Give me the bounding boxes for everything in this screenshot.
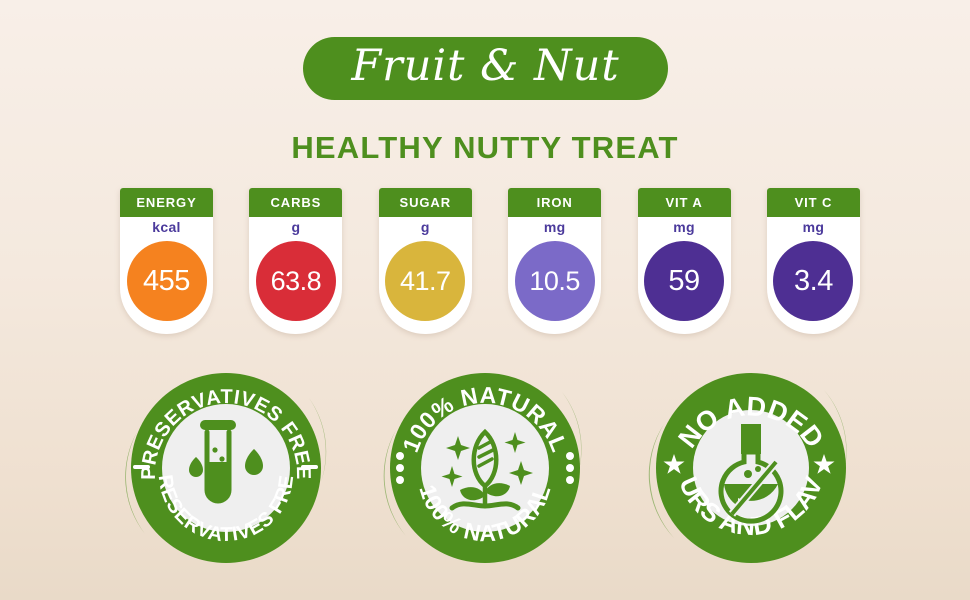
card-unit: g <box>249 219 342 235</box>
page-title: Fruit & Nut <box>351 45 619 88</box>
card-label: VIT C <box>795 195 833 210</box>
card-value-circle: 41.7 <box>385 241 465 321</box>
card-value: 59 <box>668 267 699 296</box>
card-unit: mg <box>638 219 731 235</box>
card-value-circle: 455 <box>127 241 207 321</box>
card-label: SUGAR <box>400 195 451 210</box>
nutrition-card-energy: ENERGYkcal455 <box>120 188 213 334</box>
nutrition-card-iron: IRONmg10.5 <box>508 188 601 334</box>
nutrition-cards-row: ENERGYkcal455CARBSg63.8SUGARg41.7IRONmg1… <box>120 188 860 338</box>
card-unit: mg <box>508 219 601 235</box>
card-header: IRON <box>508 188 601 217</box>
nutrition-card-vit-c: VIT Cmg3.4 <box>767 188 860 334</box>
card-header: VIT C <box>767 188 860 217</box>
nutrition-card-vit-a: VIT Amg59 <box>638 188 731 334</box>
nutrition-card-sugar: SUGARg41.7 <box>379 188 472 334</box>
card-label: CARBS <box>271 195 322 210</box>
card-header: CARBS <box>249 188 342 217</box>
card-label: IRON <box>537 195 573 210</box>
card-unit: kcal <box>120 219 213 235</box>
card-value: 63.8 <box>271 268 322 295</box>
card-value-circle: 10.5 <box>515 241 595 321</box>
page-subtitle: HEALTHY NUTTY TREAT <box>0 130 970 166</box>
card-value-circle: 63.8 <box>256 241 336 321</box>
card-header: VIT A <box>638 188 731 217</box>
card-value: 41.7 <box>400 268 451 295</box>
card-label: ENERGY <box>136 195 196 210</box>
card-unit: mg <box>767 219 860 235</box>
badge-100-percent-natural: 100% NATURAL 100% NATURAL <box>382 362 587 574</box>
certification-badges-row: PRESERVATIVES FREE PRESERVATIVES FREE <box>0 362 970 577</box>
card-unit: g <box>379 219 472 235</box>
badge-preservatives-free: PRESERVATIVES FREE PRESERVATIVES FREE <box>123 362 328 574</box>
card-value: 3.4 <box>794 267 833 296</box>
card-value-circle: 59 <box>644 241 724 321</box>
card-label: VIT A <box>665 195 702 210</box>
nutrition-card-carbs: CARBSg63.8 <box>249 188 342 334</box>
card-header: SUGAR <box>379 188 472 217</box>
card-value: 455 <box>143 267 190 296</box>
badge-no-added-colours-flavours: NO ADDED COLOURS AND FLAVOURS <box>648 362 853 574</box>
title-pill: Fruit & Nut <box>303 37 668 100</box>
card-value-circle: 3.4 <box>773 241 853 321</box>
card-header: ENERGY <box>120 188 213 217</box>
card-value: 10.5 <box>529 268 580 295</box>
